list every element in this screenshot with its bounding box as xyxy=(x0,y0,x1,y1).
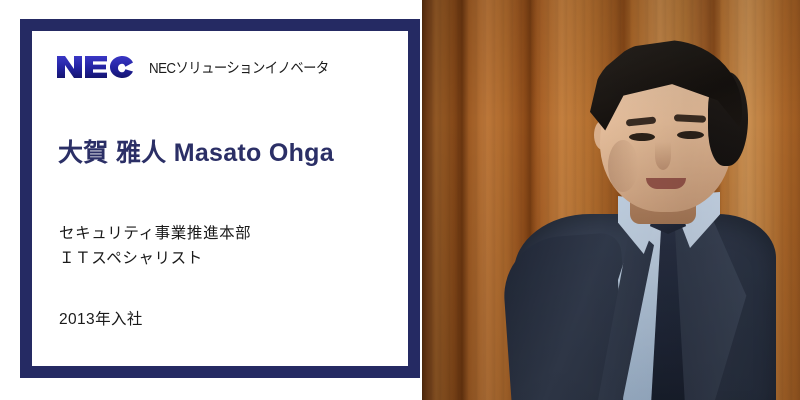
company-name-label: NECソリューションイノベータ xyxy=(149,57,329,78)
profile-card-image: NECソリューションイノベータ 大賀 雅人 Masato Ohga セキュリティ… xyxy=(0,0,800,400)
photo-lighting-overlay xyxy=(422,0,800,400)
department-label: セキュリティ事業推進本部 xyxy=(59,221,251,246)
person-name: 大賀 雅人 Masato Ohga xyxy=(58,133,334,169)
profile-card-frame: NECソリューションイノベータ 大賀 雅人 Masato Ohga セキュリティ… xyxy=(20,19,420,378)
profile-card-body: NECソリューションイノベータ 大賀 雅人 Masato Ohga セキュリティ… xyxy=(32,31,408,366)
nec-logo-icon xyxy=(57,55,135,79)
portrait-photo xyxy=(422,0,800,400)
person-affiliation: セキュリティ事業推進本部 ＩＴスペシャリスト xyxy=(59,221,251,271)
job-title-label: ＩＴスペシャリスト xyxy=(59,246,251,271)
company-logo: NECソリューションイノベータ xyxy=(57,55,344,79)
join-year-label: 2013年入社 xyxy=(59,307,143,329)
